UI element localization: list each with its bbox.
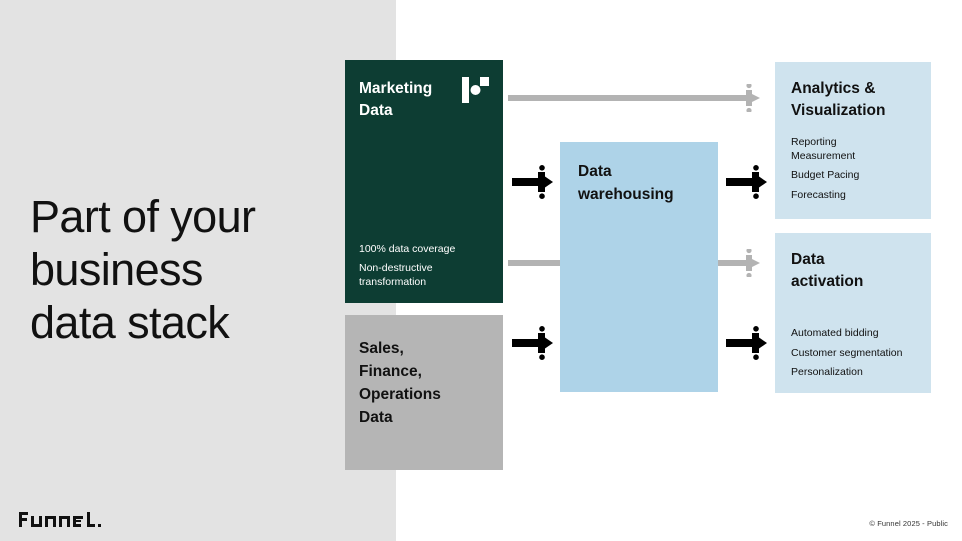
card-warehouse-title: Data warehousing <box>578 160 706 206</box>
arrow-marketing-to-warehouse <box>512 165 556 199</box>
card-sales-finance-operations-data: Sales, Finance, Operations Data <box>345 315 503 470</box>
list-item: Non-destructive transformation <box>359 261 493 289</box>
card-analytics-bullets: Reporting Measurement Budget Pacing Fore… <box>791 136 927 202</box>
card-sales-title: Sales, Finance, Operations Data <box>359 337 489 429</box>
line-marketing-to-analytics <box>508 84 766 112</box>
arrow-sales-to-warehouse <box>512 326 556 360</box>
card-data-warehousing: Data warehousing <box>560 142 718 392</box>
funnel-wordmark-logo <box>19 512 111 527</box>
list-item: Personalization <box>791 366 927 380</box>
list-item: Forecasting <box>791 189 927 203</box>
page-title: Part of your business data stack <box>30 190 360 349</box>
card-data-activation: Data activation Automated bidding Custom… <box>775 233 931 393</box>
funnel-mark-icon <box>462 77 489 103</box>
card-marketing-title: Marketing Data <box>359 78 469 122</box>
list-item: Budget Pacing <box>791 169 927 183</box>
list-item: 100% data coverage <box>359 242 493 256</box>
arrow-warehouse-to-analytics <box>726 165 770 199</box>
list-item: Customer segmentation <box>791 347 927 361</box>
list-item: Reporting Measurement <box>791 136 927 163</box>
card-activation-title: Data activation <box>791 249 919 293</box>
card-analytics-visualization: Analytics & Visualization Reporting Meas… <box>775 62 931 219</box>
arrow-warehouse-to-activation <box>726 326 770 360</box>
card-analytics-title: Analytics & Visualization <box>791 78 919 122</box>
list-item: Automated bidding <box>791 327 927 341</box>
card-activation-bullets: Automated bidding Customer segmentation … <box>791 327 927 380</box>
card-marketing-data: Marketing Data 100% data coverage Non-de… <box>345 60 503 303</box>
card-marketing-bullets: 100% data coverage Non-destructive trans… <box>359 242 493 289</box>
footer-copyright: © Funnel 2025 - Public <box>869 519 948 528</box>
